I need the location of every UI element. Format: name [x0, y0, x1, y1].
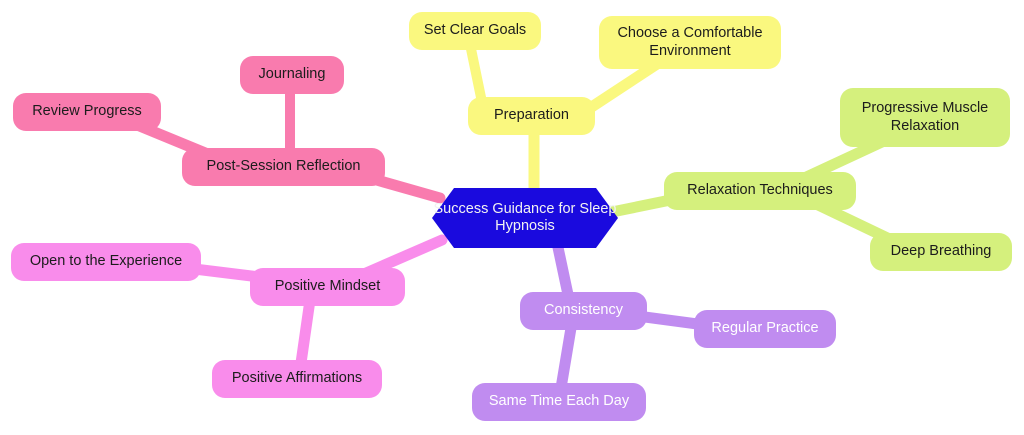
mindmap-canvas: PreparationSet Clear GoalsChoose a Comfo…: [0, 0, 1024, 435]
connector-preparation-choose-environment: [584, 62, 660, 112]
node-label: Post-Session Reflection: [207, 158, 361, 175]
branch-node-preparation[interactable]: Preparation: [468, 97, 595, 135]
leaf-node-set-clear-goals[interactable]: Set Clear Goals: [409, 12, 541, 50]
node-label: Progressive Muscle Relaxation: [850, 100, 1000, 134]
branch-node-consistency[interactable]: Consistency: [520, 292, 647, 330]
node-label: Regular Practice: [711, 320, 818, 337]
center-node[interactable]: Success Guidance for Sleep Hypnosis: [432, 188, 618, 248]
leaf-node-regular-practice[interactable]: Regular Practice: [694, 310, 836, 348]
node-label: Positive Mindset: [275, 278, 381, 295]
node-label: Consistency: [544, 302, 623, 319]
leaf-node-choose-a-comfortable-environment[interactable]: Choose a Comfortable Environment: [599, 16, 781, 69]
node-label: Deep Breathing: [891, 243, 992, 260]
node-label: Set Clear Goals: [424, 22, 526, 39]
node-label: Positive Affirmations: [232, 370, 362, 387]
leaf-node-review-progress[interactable]: Review Progress: [13, 93, 161, 131]
leaf-node-deep-breathing[interactable]: Deep Breathing: [870, 233, 1012, 271]
node-label: Journaling: [259, 66, 326, 83]
node-label: Review Progress: [32, 103, 142, 120]
node-label: Same Time Each Day: [489, 393, 629, 410]
node-label: Preparation: [494, 107, 569, 124]
node-label: Open to the Experience: [30, 253, 182, 270]
leaf-node-positive-affirmations[interactable]: Positive Affirmations: [212, 360, 382, 398]
branch-node-positive-mindset[interactable]: Positive Mindset: [250, 268, 405, 306]
branch-node-post-session-reflection[interactable]: Post-Session Reflection: [182, 148, 385, 186]
node-label: Choose a Comfortable Environment: [609, 25, 771, 59]
leaf-node-progressive-muscle-relaxation[interactable]: Progressive Muscle Relaxation: [840, 88, 1010, 147]
leaf-node-open-to-the-experience[interactable]: Open to the Experience: [11, 243, 201, 281]
node-label: Relaxation Techniques: [687, 182, 833, 199]
center-node-label: Success Guidance for Sleep Hypnosis: [432, 201, 618, 235]
branch-node-relaxation-techniques[interactable]: Relaxation Techniques: [664, 172, 856, 210]
leaf-node-journaling[interactable]: Journaling: [240, 56, 344, 94]
leaf-node-same-time-each-day[interactable]: Same Time Each Day: [472, 383, 646, 421]
